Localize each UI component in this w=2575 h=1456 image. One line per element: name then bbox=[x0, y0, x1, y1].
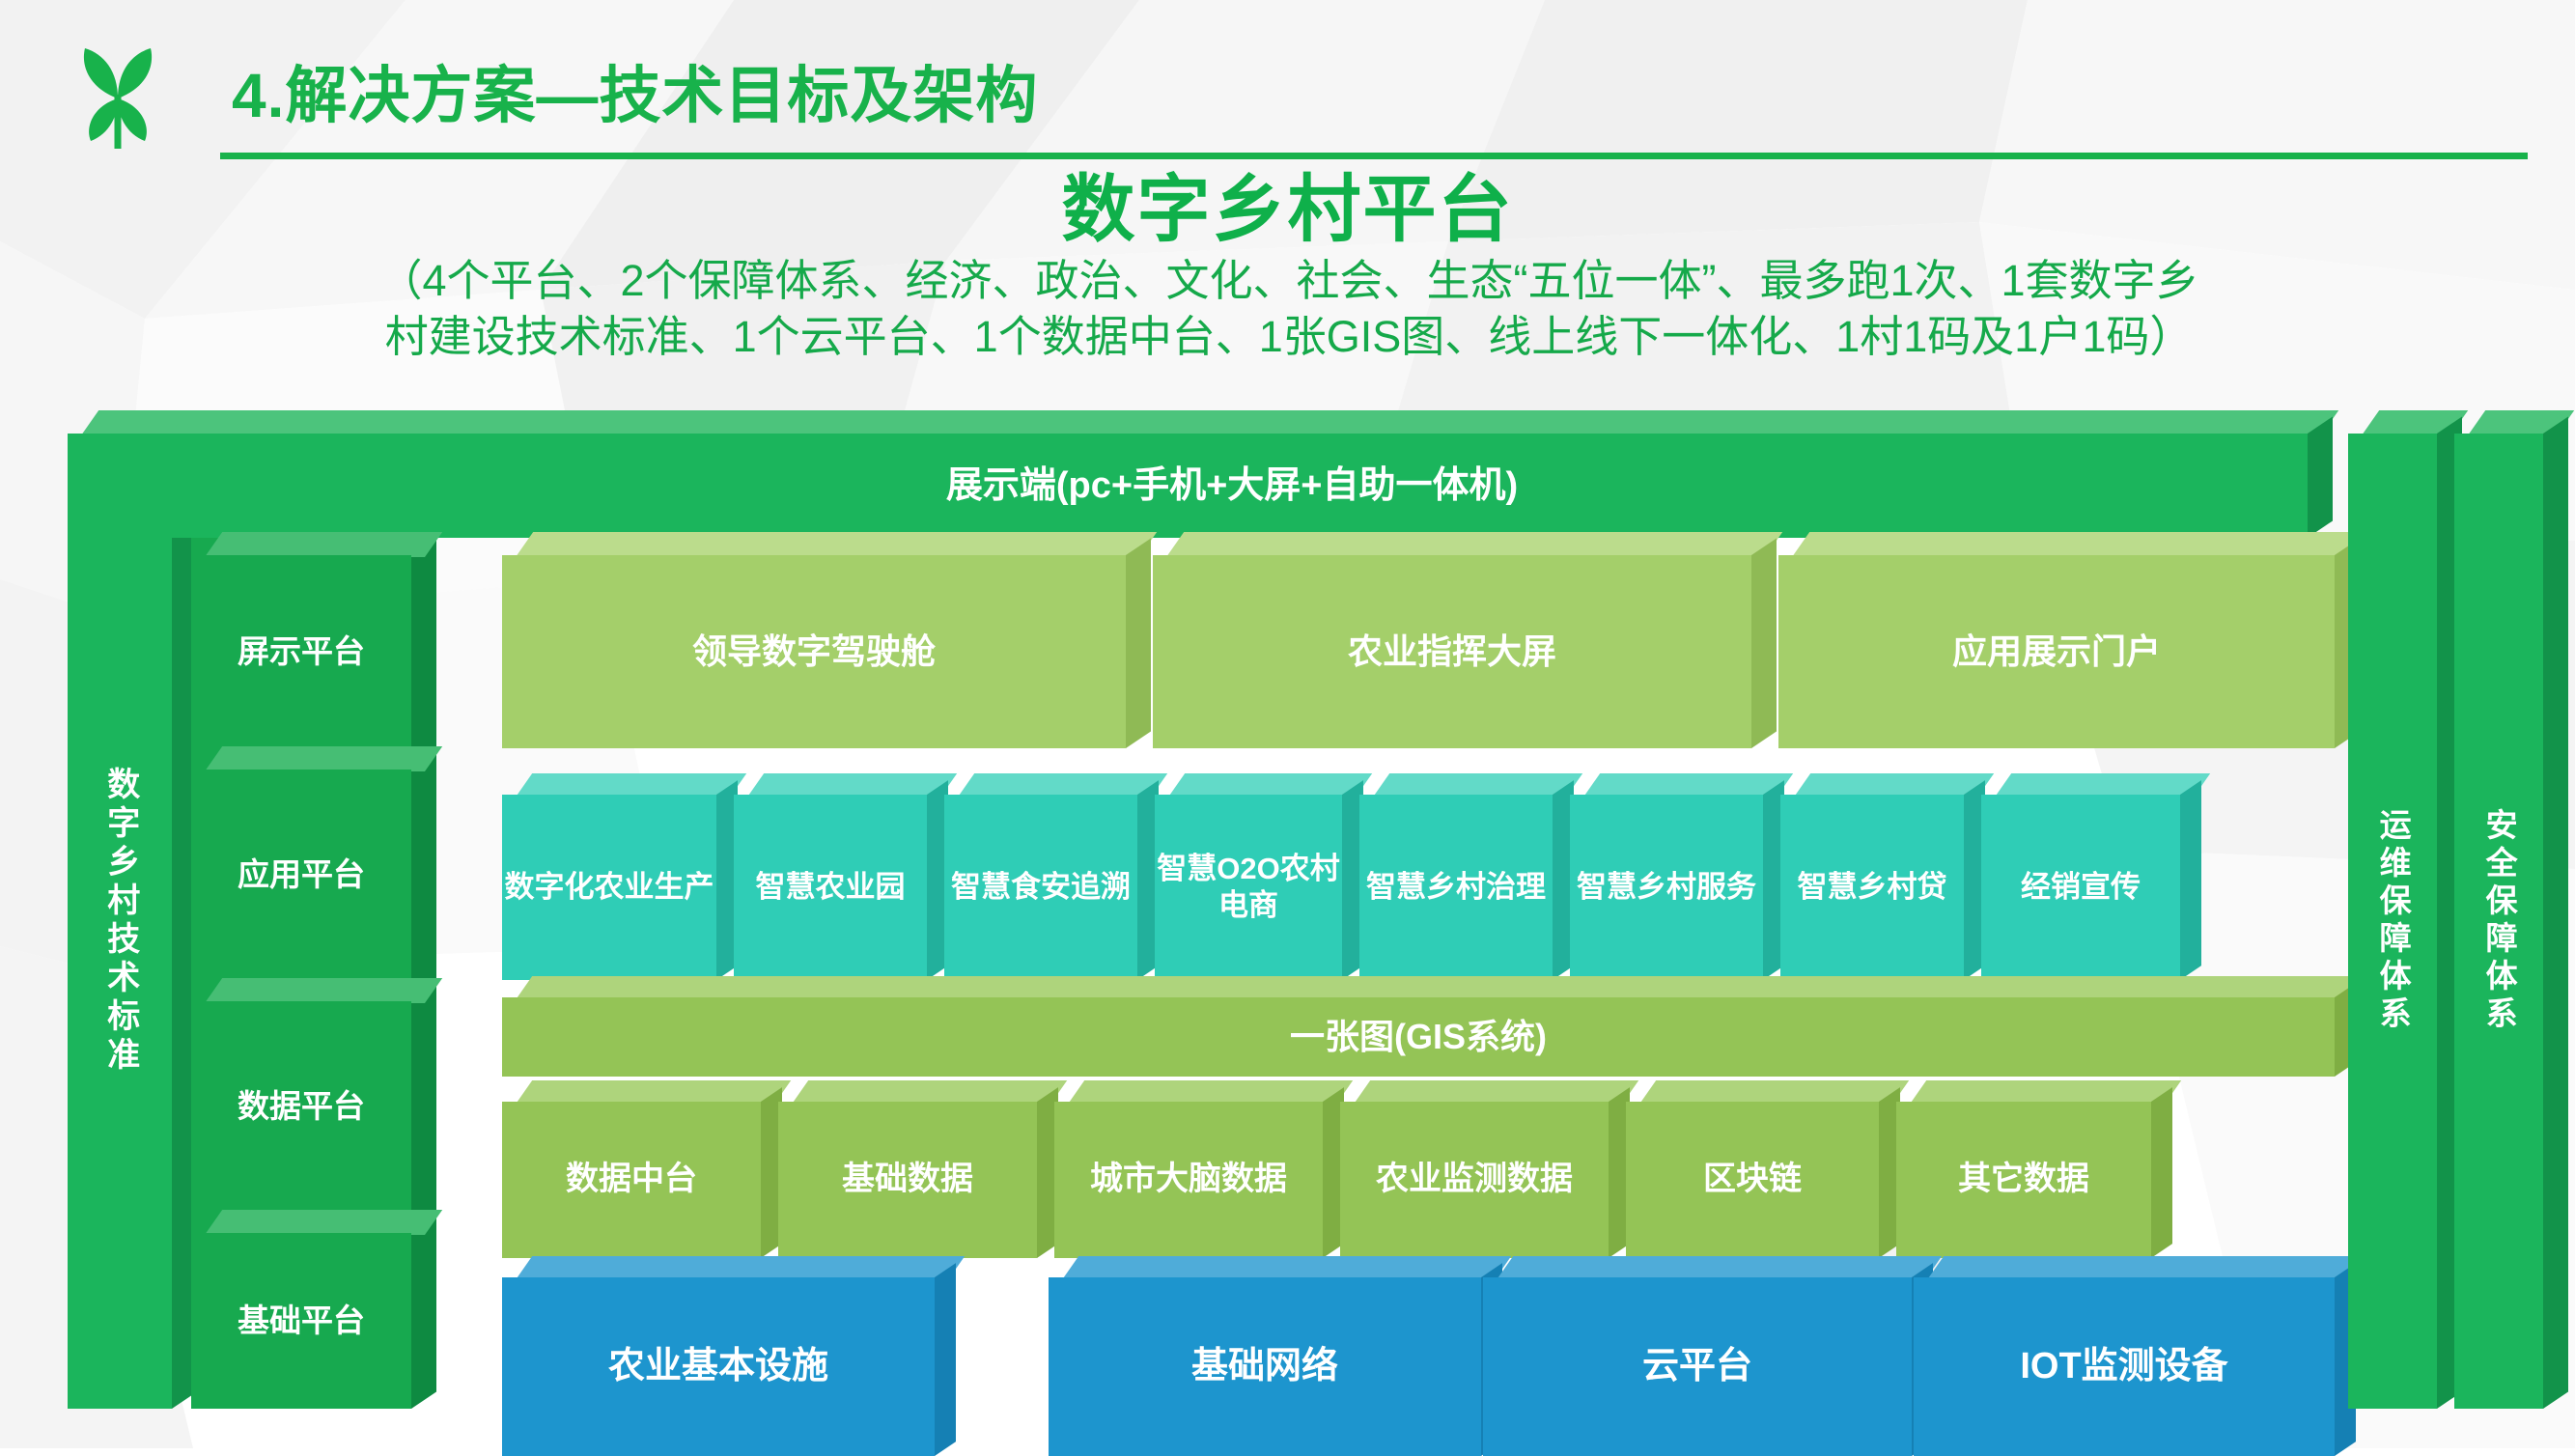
architecture-diagram: 数字乡村技术标准 屏示平台 应用平台 数据平台 基础平台 bbox=[68, 410, 2520, 1434]
infra-tier-label-1: 基础网络 bbox=[1049, 1277, 1481, 1456]
app-tier-label-2: 智慧食安追溯 bbox=[944, 795, 1137, 980]
data-tier-cell-3[interactable]: 农业监测数据 bbox=[1340, 1102, 1609, 1258]
app-tier-label-7: 经销宣传 bbox=[1981, 795, 2180, 980]
infra-tier-label-2: 云平台 bbox=[1483, 1277, 1912, 1456]
right-pillar-operations[interactable]: 运维保障体系 bbox=[2348, 434, 2437, 1409]
data-tier-label-3: 农业监测数据 bbox=[1340, 1102, 1609, 1258]
app-tier-cell-6[interactable]: 智慧乡村贷 bbox=[1780, 795, 1964, 980]
display-tier-label-1: 农业指挥大屏 bbox=[1153, 555, 1751, 748]
right-pillar-security-label: 安全保障体系 bbox=[2479, 808, 2518, 1034]
infra-tier-cell-3[interactable]: IOT监测设备 bbox=[1914, 1277, 2335, 1456]
data-tier-label-5: 其它数据 bbox=[1896, 1102, 2151, 1258]
tier-label-display[interactable]: 屏示平台 bbox=[191, 555, 411, 748]
app-tier-cell-0[interactable]: 数字化农业生产 bbox=[502, 795, 716, 980]
display-tier-cell-2[interactable]: 应用展示门户 bbox=[1778, 555, 2335, 748]
infra-tier-cell-2[interactable]: 云平台 bbox=[1483, 1277, 1912, 1456]
app-tier-label-6: 智慧乡村贷 bbox=[1780, 795, 1964, 980]
data-tier-cell-1[interactable]: 基础数据 bbox=[778, 1102, 1037, 1258]
tier-label-app[interactable]: 应用平台 bbox=[191, 770, 411, 980]
page-title: 4.解决方案—技术目标及架构 bbox=[232, 46, 1038, 135]
leaf-icon bbox=[70, 44, 166, 151]
display-tier-label-0: 领导数字驾驶舱 bbox=[502, 555, 1126, 748]
app-tier-label-1: 智慧农业园 bbox=[734, 795, 927, 980]
app-tier-cell-2[interactable]: 智慧食安追溯 bbox=[944, 795, 1137, 980]
gis-band-label: 一张图(GIS系统) bbox=[502, 997, 2335, 1077]
tier-label-data-text: 数据平台 bbox=[191, 1001, 411, 1212]
right-pillar-operations-label: 运维保障体系 bbox=[2373, 808, 2412, 1034]
top-band-label: 展示端(pc+手机+大屏+自助一体机) bbox=[156, 434, 2308, 538]
data-tier-cell-2[interactable]: 城市大脑数据 bbox=[1054, 1102, 1323, 1258]
tier-label-app-text: 应用平台 bbox=[191, 770, 411, 980]
app-tier-cell-1[interactable]: 智慧农业园 bbox=[734, 795, 927, 980]
tier-label-display-text: 屏示平台 bbox=[191, 555, 411, 748]
page-header: 4.解决方案—技术目标及架构 bbox=[0, 17, 2575, 143]
subtitle-line-2: 村建设技术标准、1个云平台、1个数据中台、1张GIS图、线上线下一体化、1村1码… bbox=[92, 309, 2486, 365]
left-pillar-standards[interactable]: 数字乡村技术标准 bbox=[68, 434, 172, 1409]
app-tier-label-0: 数字化农业生产 bbox=[502, 795, 716, 980]
app-tier-cell-5[interactable]: 智慧乡村服务 bbox=[1570, 795, 1763, 980]
data-tier-cell-4[interactable]: 区块链 bbox=[1626, 1102, 1879, 1258]
tier-label-data[interactable]: 数据平台 bbox=[191, 1001, 411, 1212]
main-title: 数字乡村平台 bbox=[0, 150, 2575, 256]
subtitle-line-1: （4个平台、2个保障体系、经济、政治、文化、社会、生态“五位一体”、最多跑1次、… bbox=[92, 253, 2486, 309]
tier-label-infra[interactable]: 基础平台 bbox=[191, 1233, 411, 1409]
display-tier-cell-1[interactable]: 农业指挥大屏 bbox=[1153, 555, 1751, 748]
data-tier-label-1: 基础数据 bbox=[778, 1102, 1037, 1258]
app-tier-cell-7[interactable]: 经销宣传 bbox=[1981, 795, 2180, 980]
infra-tier-label-3: IOT监测设备 bbox=[1914, 1277, 2335, 1456]
gis-band[interactable]: 一张图(GIS系统) bbox=[502, 997, 2335, 1077]
app-tier-cell-3[interactable]: 智慧O2O农村电商 bbox=[1155, 795, 1342, 980]
left-pillar-label: 数字乡村技术标准 bbox=[99, 767, 139, 1076]
display-tier-cell-0[interactable]: 领导数字驾驶舱 bbox=[502, 555, 1126, 748]
right-pillar-security[interactable]: 安全保障体系 bbox=[2454, 434, 2543, 1409]
data-tier-cell-5[interactable]: 其它数据 bbox=[1896, 1102, 2151, 1258]
data-tier-cell-0[interactable]: 数据中台 bbox=[502, 1102, 761, 1258]
infra-tier-cell-0[interactable]: 农业基本设施 bbox=[502, 1277, 935, 1456]
display-tier-label-2: 应用展示门户 bbox=[1778, 555, 2335, 748]
infra-tier-cell-1[interactable]: 基础网络 bbox=[1049, 1277, 1481, 1456]
app-tier-label-3: 智慧O2O农村电商 bbox=[1155, 795, 1342, 980]
app-tier-cell-4[interactable]: 智慧乡村治理 bbox=[1359, 795, 1553, 980]
data-tier-label-0: 数据中台 bbox=[502, 1102, 761, 1258]
tier-label-infra-text: 基础平台 bbox=[191, 1233, 411, 1409]
app-tier-label-4: 智慧乡村治理 bbox=[1359, 795, 1553, 980]
top-band-display-end[interactable]: 展示端(pc+手机+大屏+自助一体机) bbox=[156, 434, 2308, 538]
data-tier-label-4: 区块链 bbox=[1626, 1102, 1879, 1258]
infra-tier-label-0: 农业基本设施 bbox=[502, 1277, 935, 1456]
subtitle-description: （4个平台、2个保障体系、经济、政治、文化、社会、生态“五位一体”、最多跑1次、… bbox=[92, 253, 2486, 364]
data-tier-label-2: 城市大脑数据 bbox=[1054, 1102, 1323, 1258]
app-tier-label-5: 智慧乡村服务 bbox=[1570, 795, 1763, 980]
